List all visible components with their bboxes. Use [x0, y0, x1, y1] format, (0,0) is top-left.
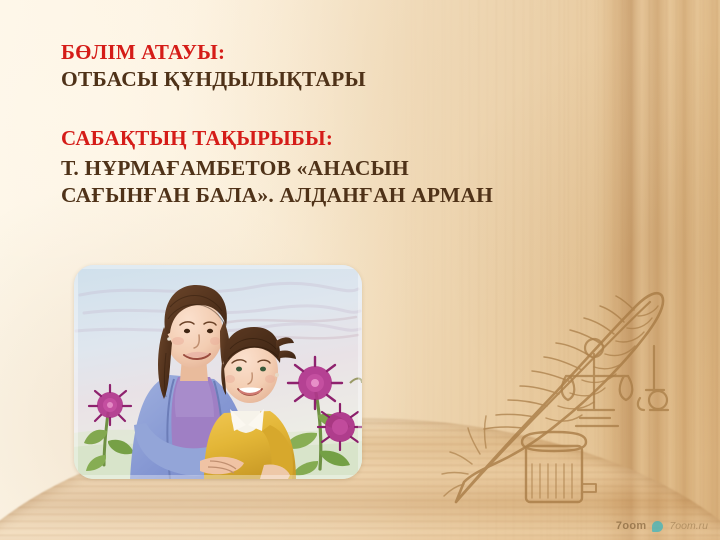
slide-text-block: БӨЛІМ АТАУЫ: ОТБАСЫ ҚҰНДЫЛЫҚТАРЫ САБАҚТЫ…: [61, 40, 661, 208]
feather-quill-and-inkwell-drawing: [428, 258, 690, 526]
watermark-url: 7oom.ru: [669, 520, 708, 532]
mother-and-child-illustration: [74, 265, 362, 479]
lesson-title-line-2: САҒЫНҒАН БАЛА». АЛДАНҒАН АРМАН: [61, 183, 661, 208]
section-label: БӨЛІМ АТАУЫ:: [61, 40, 661, 64]
watermark-brand: 7oom: [616, 520, 647, 532]
watermark: 7oom 7oom.ru: [616, 520, 708, 532]
presentation-slide: БӨЛІМ АТАУЫ: ОТБАСЫ ҚҰНДЫЛЫҚТАРЫ САБАҚТЫ…: [0, 0, 720, 540]
lesson-label: САБАҚТЫҢ ТАҚЫРЫБЫ:: [61, 126, 661, 150]
section-name: ОТБАСЫ ҚҰНДЫЛЫҚТАРЫ: [61, 67, 661, 92]
watermark-dot-icon: [652, 521, 663, 532]
lesson-title-line-1: Т. НҰРМАҒАМБЕТОВ «АНАСЫН: [61, 156, 661, 181]
candle-ornament: [638, 346, 668, 410]
